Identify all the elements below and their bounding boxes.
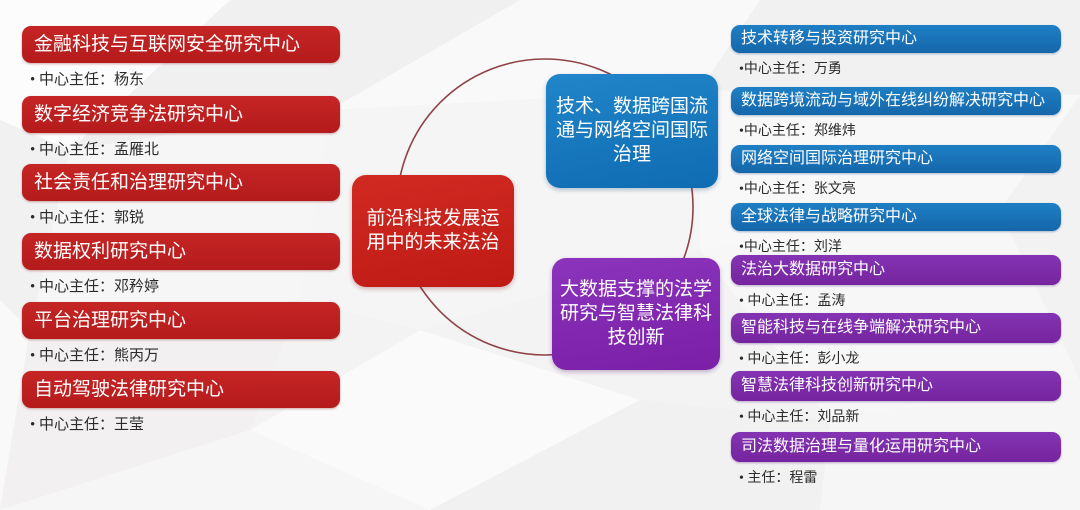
right-center-director-purple-3: • 中心主任：刘品新 [739, 406, 859, 426]
right-center-director-label-blue-1: •中心主任：万勇 [739, 58, 842, 78]
left-center-director-label-4: • 中心主任：邓矜婷 [30, 275, 159, 296]
left-center-box-1[interactable]: 金融科技与互联网安全研究中心 [22, 26, 340, 63]
left-center-title-6: 自动驾驶法律研究中心 [34, 380, 224, 400]
left-center-box-6[interactable]: 自动驾驶法律研究中心 [22, 371, 340, 408]
right-center-director-purple-1: • 中心主任：孟涛 [739, 290, 845, 310]
right-center-director-blue-3: •中心主任：张文亮 [739, 178, 856, 198]
left-center-director-label-2: • 中心主任：孟雁北 [30, 138, 159, 159]
left-center-director-label-1: • 中心主任：杨东 [30, 68, 144, 89]
right-center-title-purple-3: 智慧法律科技创新研究中心 [741, 378, 933, 395]
left-center-box-5[interactable]: 平台治理研究中心 [22, 302, 340, 339]
left-center-director-label-5: • 中心主任：熊丙万 [30, 344, 159, 365]
right-center-director-purple-4: • 主任：程雷 [739, 467, 817, 487]
right-center-title-purple-4: 司法数据治理与量化运用研究中心 [741, 439, 981, 456]
right-center-title-blue-2: 数据跨境流动与域外在线纠纷解决研究中心 [741, 93, 1045, 110]
right-center-director-label-purple-4: • 主任：程雷 [739, 467, 817, 487]
left-center-title-2: 数字经济竞争法研究中心 [34, 105, 243, 125]
right-center-director-blue-2: •中心主任：郑维炜 [739, 120, 856, 140]
left-center-box-4[interactable]: 数据权利研究中心 [22, 233, 340, 270]
left-center-title-1: 金融科技与互联网安全研究中心 [34, 35, 300, 55]
right-center-director-purple-2: • 中心主任：彭小龙 [739, 348, 859, 368]
right-center-box-blue-2[interactable]: 数据跨境流动与域外在线纠纷解决研究中心 [731, 87, 1061, 115]
right-center-director-label-purple-3: • 中心主任：刘品新 [739, 406, 859, 426]
right-center-box-blue-3[interactable]: 网络空间国际治理研究中心 [731, 145, 1061, 173]
right-center-director-blue-1: •中心主任：万勇 [739, 58, 842, 78]
right-center-box-blue-4[interactable]: 全球法律与战略研究中心 [731, 203, 1061, 231]
right-center-title-purple-2: 智能科技与在线争端解决研究中心 [741, 320, 981, 337]
right-center-director-label-blue-4: •中心主任：刘洋 [739, 236, 842, 256]
right-center-director-label-purple-1: • 中心主任：孟涛 [739, 290, 845, 310]
left-center-director-6: • 中心主任：王莹 [30, 413, 144, 434]
hub-bottom-right-node[interactable]: 大数据支撑的法学研究与智慧法律科技创新 [552, 258, 720, 370]
left-center-title-4: 数据权利研究中心 [34, 242, 186, 262]
right-center-box-blue-1[interactable]: 技术转移与投资研究中心 [731, 25, 1061, 53]
left-center-box-3[interactable]: 社会责任和治理研究中心 [22, 164, 340, 201]
left-center-director-1: • 中心主任：杨东 [30, 68, 144, 89]
right-center-box-purple-3[interactable]: 智慧法律科技创新研究中心 [731, 371, 1061, 401]
right-center-director-label-purple-2: • 中心主任：彭小龙 [739, 348, 859, 368]
right-center-director-label-blue-2: •中心主任：郑维炜 [739, 120, 856, 140]
left-center-director-5: • 中心主任：熊丙万 [30, 344, 159, 365]
right-center-director-label-blue-3: •中心主任：张文亮 [739, 178, 856, 198]
hub-bottom-right-label: 大数据支撑的法学研究与智慧法律科技创新 [552, 278, 720, 351]
left-center-director-2: • 中心主任：孟雁北 [30, 138, 159, 159]
hub-center-node[interactable]: 前沿科技发展运用中的未来法治 [352, 175, 514, 287]
left-center-director-label-6: • 中心主任：王莹 [30, 413, 144, 434]
right-center-title-blue-1: 技术转移与投资研究中心 [741, 31, 917, 48]
right-center-box-purple-1[interactable]: 法治大数据研究中心 [731, 255, 1061, 285]
left-center-box-2[interactable]: 数字经济竞争法研究中心 [22, 96, 340, 133]
right-center-box-purple-2[interactable]: 智能科技与在线争端解决研究中心 [731, 313, 1061, 343]
right-center-title-purple-1: 法治大数据研究中心 [741, 262, 885, 279]
right-center-title-blue-4: 全球法律与战略研究中心 [741, 209, 917, 226]
right-center-director-blue-4: •中心主任：刘洋 [739, 236, 842, 256]
left-center-director-3: • 中心主任：郭锐 [30, 206, 144, 227]
left-center-director-4: • 中心主任：邓矜婷 [30, 275, 159, 296]
left-center-title-3: 社会责任和治理研究中心 [34, 173, 243, 193]
diagram-canvas: 金融科技与互联网安全研究中心 • 中心主任：杨东 数字经济竞争法研究中心 • 中… [0, 0, 1080, 510]
left-center-director-label-3: • 中心主任：郭锐 [30, 206, 144, 227]
hub-top-right-node[interactable]: 技术、数据跨国流通与网络空间国际治理 [546, 74, 718, 188]
right-center-box-purple-4[interactable]: 司法数据治理与量化运用研究中心 [731, 432, 1061, 462]
hub-center-label: 前沿科技发展运用中的未来法治 [352, 207, 514, 256]
left-center-title-5: 平台治理研究中心 [34, 311, 186, 331]
hub-top-right-label: 技术、数据跨国流通与网络空间国际治理 [546, 95, 718, 168]
right-center-title-blue-3: 网络空间国际治理研究中心 [741, 151, 933, 168]
